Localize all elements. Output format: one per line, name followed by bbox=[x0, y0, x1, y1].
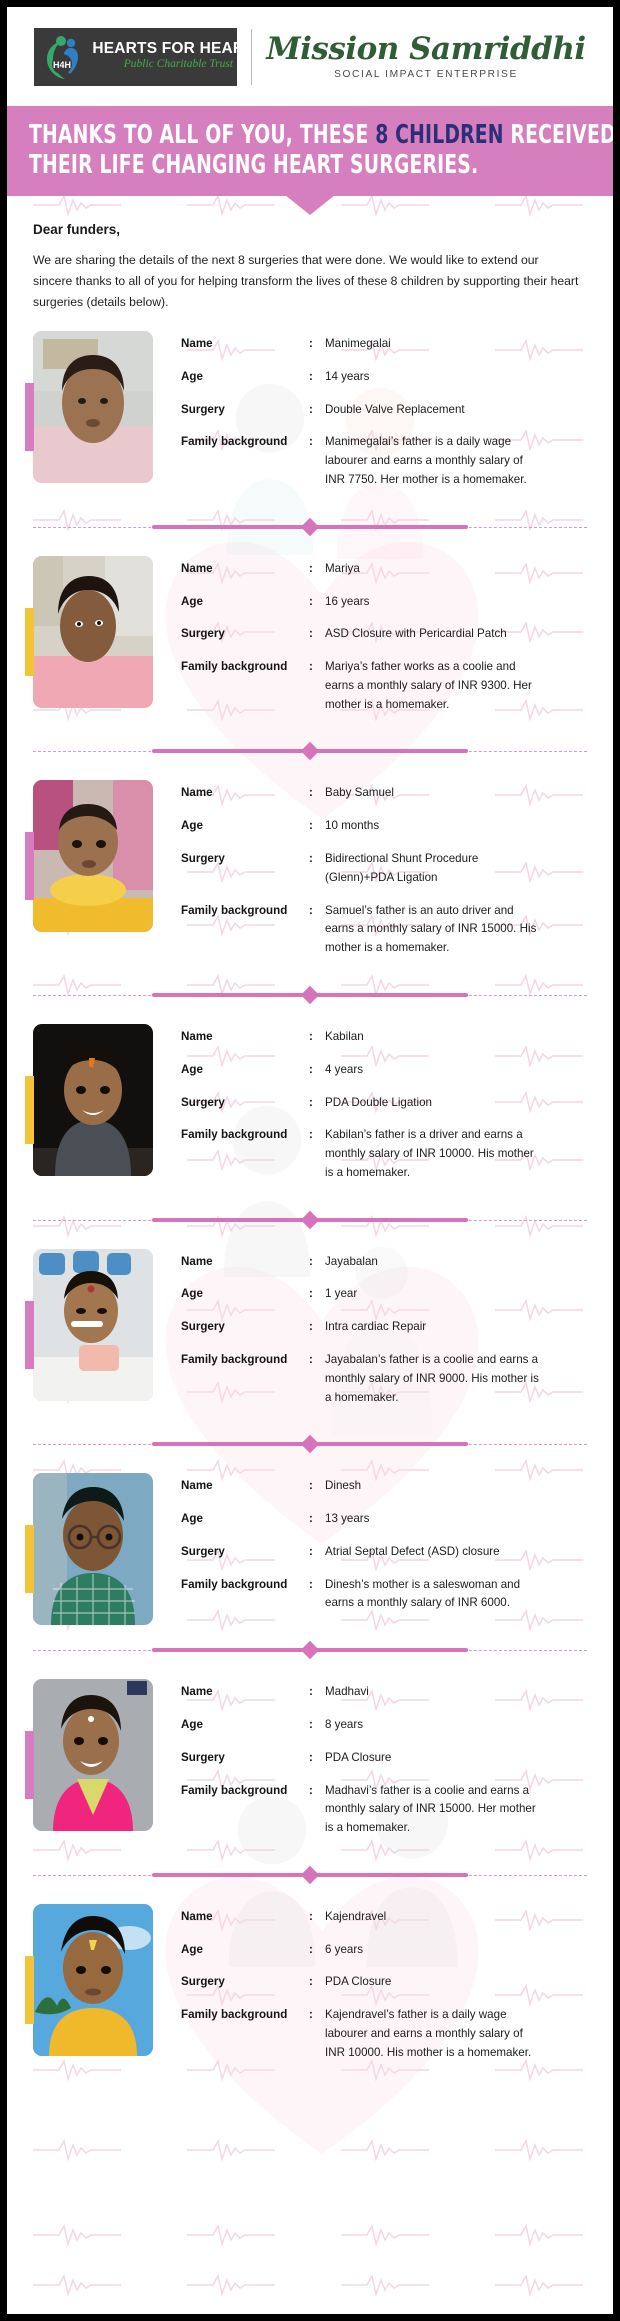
mariya-photo bbox=[33, 556, 153, 708]
field-colon: : bbox=[309, 1716, 325, 1733]
field-label-surgery: Surgery bbox=[181, 1094, 309, 1111]
field-colon: : bbox=[309, 1477, 325, 1494]
field-row-surgery: Surgery:Double Valve Replacement bbox=[181, 401, 599, 420]
child-photo-wrap bbox=[33, 1024, 153, 1197]
card-divider bbox=[7, 1209, 613, 1231]
field-value-name: Manimegalai bbox=[325, 335, 545, 354]
field-colon: : bbox=[309, 2006, 325, 2023]
field-value-age: 4 years bbox=[325, 1061, 545, 1080]
child-card: Name:DineshAge:13 yearsSurgery:Atrial Se… bbox=[7, 1455, 613, 1637]
field-row-family: Family background:Kabilan’s father is a … bbox=[181, 1126, 599, 1182]
field-row-age: Age:1 year bbox=[181, 1285, 599, 1304]
field-row-surgery: Surgery:PDA Closure bbox=[181, 1749, 599, 1768]
field-row-surgery: Surgery:PDA Closure bbox=[181, 1973, 599, 1992]
field-row-age: Age:14 years bbox=[181, 368, 599, 387]
card-divider bbox=[7, 984, 613, 1006]
field-label-age: Age bbox=[181, 368, 309, 385]
field-row-name: Name:Kajendravel bbox=[181, 1908, 599, 1927]
field-colon: : bbox=[309, 1094, 325, 1111]
field-value-age: 13 years bbox=[325, 1510, 545, 1529]
field-value-name: Dinesh bbox=[325, 1477, 545, 1496]
child-detail-fields: Name:JayabalanAge:1 yearSurgery: Intra c… bbox=[153, 1249, 599, 1422]
field-label-family: Family background bbox=[181, 658, 309, 675]
headline-part-1: THANKS TO ALL OF YOU, THESE bbox=[29, 120, 375, 150]
field-label-age: Age bbox=[181, 1941, 309, 1958]
child-card: Name:JayabalanAge:1 yearSurgery: Intra c… bbox=[7, 1231, 613, 1432]
child-card: Name:MadhaviAge:8 yearsSurgery:PDA Closu… bbox=[7, 1661, 613, 1862]
field-value-family: Mariya’s father works as a coolie and ea… bbox=[325, 658, 545, 714]
field-colon: : bbox=[309, 1908, 325, 1925]
field-label-name: Name bbox=[181, 1908, 309, 1925]
field-row-name: Name:Jayabalan bbox=[181, 1253, 599, 1272]
field-colon: : bbox=[309, 368, 325, 385]
field-colon: : bbox=[309, 433, 325, 450]
field-label-name: Name bbox=[181, 1253, 309, 1270]
baby-samuel-photo bbox=[33, 780, 153, 932]
child-detail-fields: Name:ManimegalaiAge:14 yearsSurgery:Doub… bbox=[153, 331, 599, 504]
field-colon: : bbox=[309, 1318, 325, 1335]
field-label-family: Family background bbox=[181, 433, 309, 450]
divider-diamond-icon bbox=[301, 742, 319, 760]
field-label-name: Name bbox=[181, 784, 309, 801]
field-value-family: Manimegalai’s father is a daily wage lab… bbox=[325, 433, 545, 489]
field-colon: : bbox=[309, 817, 325, 834]
field-label-age: Age bbox=[181, 1285, 309, 1302]
field-row-family: Family background:Kajendravel’s father i… bbox=[181, 2006, 599, 2062]
field-label-name: Name bbox=[181, 1683, 309, 1700]
field-label-name: Name bbox=[181, 1028, 309, 1045]
child-photo-wrap bbox=[33, 556, 153, 729]
field-row-family: Family background:Dinesh’s mother is a s… bbox=[181, 1576, 599, 1614]
field-label-surgery: Surgery bbox=[181, 1973, 309, 1990]
photo-accent-bar bbox=[25, 1301, 34, 1369]
child-detail-fields: Name:MadhaviAge:8 yearsSurgery:PDA Closu… bbox=[153, 1679, 599, 1852]
field-row-name: Name:Baby Samuel bbox=[181, 784, 599, 803]
child-card: Name:KabilanAge: 4 yearsSurgery:PDA Doub… bbox=[7, 1006, 613, 1207]
field-label-name: Name bbox=[181, 560, 309, 577]
field-row-name: Name:Manimegalai bbox=[181, 335, 599, 354]
field-colon: : bbox=[309, 625, 325, 642]
field-label-family: Family background bbox=[181, 1576, 309, 1593]
field-colon: : bbox=[309, 335, 325, 352]
field-colon: : bbox=[309, 1749, 325, 1766]
hearts-for-hearts-logo: H4H HEARTS FOR HEARTS Public Charitable … bbox=[34, 28, 237, 86]
field-label-surgery: Surgery bbox=[181, 850, 309, 867]
field-colon: : bbox=[309, 850, 325, 867]
field-value-age: 6 years bbox=[325, 1941, 545, 1960]
field-row-surgery: Surgery:PDA Double Ligation bbox=[181, 1094, 599, 1113]
photo-accent-bar bbox=[25, 1525, 34, 1593]
child-photo-wrap bbox=[33, 331, 153, 504]
field-row-family: Family background:Mariya’s father works … bbox=[181, 658, 599, 714]
header-logo-bar: H4H HEARTS FOR HEARTS Public Charitable … bbox=[7, 7, 613, 106]
manimegalai-photo bbox=[33, 331, 153, 483]
field-colon: : bbox=[309, 658, 325, 675]
intro-body: We are sharing the details of the next 8… bbox=[33, 250, 581, 313]
field-value-name: Baby Samuel bbox=[325, 784, 545, 803]
divider-diamond-icon bbox=[301, 1866, 319, 1884]
h4h-logo-icon: H4H bbox=[42, 33, 86, 81]
field-colon: : bbox=[309, 1285, 325, 1302]
field-colon: : bbox=[309, 1576, 325, 1593]
field-row-age: Age:8 years bbox=[181, 1716, 599, 1735]
field-label-name: Name bbox=[181, 1477, 309, 1494]
field-value-family: Jayabalan’s father is a coolie and earns… bbox=[325, 1351, 545, 1407]
intro-section: Dear funders, We are sharing the details… bbox=[7, 196, 613, 313]
field-label-surgery: Surgery bbox=[181, 1749, 309, 1766]
field-colon: : bbox=[309, 1782, 325, 1799]
field-label-age: Age bbox=[181, 1510, 309, 1527]
partner-tagline: SOCIAL IMPACT ENTERPRISE bbox=[334, 69, 518, 80]
child-detail-fields: Name:KajendravelAge:6 yearsSurgery:PDA C… bbox=[153, 1904, 599, 2077]
field-row-family: Family background:Manimegalai’s father i… bbox=[181, 433, 599, 489]
child-detail-fields: Name:KabilanAge: 4 yearsSurgery:PDA Doub… bbox=[153, 1024, 599, 1197]
field-value-surgery: PDA Closure bbox=[325, 1973, 545, 1992]
photo-accent-bar bbox=[25, 1731, 34, 1799]
field-colon: : bbox=[309, 902, 325, 919]
field-colon: : bbox=[309, 1510, 325, 1527]
field-colon: : bbox=[309, 1253, 325, 1270]
divider-diamond-icon bbox=[301, 986, 319, 1004]
field-row-family: Family background:Samuel’s father is an … bbox=[181, 902, 599, 958]
field-label-surgery: Surgery bbox=[181, 401, 309, 418]
field-colon: : bbox=[309, 1941, 325, 1958]
field-value-family: Kajendravel’s father is a daily wage lab… bbox=[325, 2006, 545, 2062]
field-row-name: Name:Dinesh bbox=[181, 1477, 599, 1496]
field-row-age: Age:6 years bbox=[181, 1941, 599, 1960]
child-detail-fields: Name:Baby SamuelAge:10 monthsSurgery:Bid… bbox=[153, 780, 599, 971]
field-label-age: Age bbox=[181, 593, 309, 610]
field-label-age: Age bbox=[181, 817, 309, 834]
headline-banner: THANKS TO ALL OF YOU, THESE 8 CHILDREN R… bbox=[7, 106, 613, 196]
divider-diamond-icon bbox=[301, 518, 319, 536]
headline-highlight: 8 CHILDREN bbox=[375, 120, 504, 150]
photo-accent-bar bbox=[25, 832, 34, 900]
field-colon: : bbox=[309, 1028, 325, 1045]
field-value-surgery: PDA Double Ligation bbox=[325, 1094, 545, 1113]
partner-name: Mission Samriddhi bbox=[266, 34, 585, 65]
headline-part-2: RECEIVED bbox=[504, 120, 613, 150]
field-row-name: Name:Kabilan bbox=[181, 1028, 599, 1047]
field-value-surgery: ASD Closure with Pericardial Patch bbox=[325, 625, 545, 644]
field-row-family: Family background:Jayabalan’s father is … bbox=[181, 1351, 599, 1407]
field-label-family: Family background bbox=[181, 1782, 309, 1799]
child-card: Name:ManimegalaiAge:14 yearsSurgery:Doub… bbox=[7, 313, 613, 514]
field-colon: : bbox=[309, 784, 325, 801]
field-value-name: Mariya bbox=[325, 560, 545, 579]
field-row-surgery: Surgery:ASD Closure with Pericardial Pat… bbox=[181, 625, 599, 644]
card-divider bbox=[7, 516, 613, 538]
field-row-surgery: Surgery: Intra cardiac Repair bbox=[181, 1318, 599, 1337]
child-detail-fields: Name:DineshAge:13 yearsSurgery:Atrial Se… bbox=[153, 1473, 599, 1627]
field-colon: : bbox=[309, 1973, 325, 1990]
card-divider bbox=[7, 1639, 613, 1661]
child-card: Name:Baby SamuelAge:10 monthsSurgery:Bid… bbox=[7, 762, 613, 981]
child-photo-wrap bbox=[33, 1473, 153, 1627]
field-value-name: Madhavi bbox=[325, 1683, 545, 1702]
field-value-age: 10 months bbox=[325, 817, 545, 836]
divider-diamond-icon bbox=[301, 1641, 319, 1659]
dinesh-photo bbox=[33, 1473, 153, 1625]
card-divider bbox=[7, 1433, 613, 1455]
field-value-name: Kajendravel bbox=[325, 1908, 545, 1927]
field-colon: : bbox=[309, 1351, 325, 1368]
field-colon: : bbox=[309, 560, 325, 577]
field-value-surgery: Bidirectional Shunt Procedure (Glenn)+PD… bbox=[325, 850, 545, 888]
field-value-family: Dinesh’s mother is a saleswoman and earn… bbox=[325, 1576, 545, 1614]
card-divider bbox=[7, 1864, 613, 1886]
logo-tagline: Public Charitable Trust bbox=[92, 58, 264, 72]
child-detail-fields: Name:MariyaAge:16 yearsSurgery:ASD Closu… bbox=[153, 556, 599, 729]
headline-text: THANKS TO ALL OF YOU, THESE 8 CHILDREN R… bbox=[29, 120, 490, 180]
photo-accent-bar bbox=[25, 1956, 34, 2024]
field-colon: : bbox=[309, 1126, 325, 1143]
card-divider bbox=[7, 740, 613, 762]
field-value-surgery: Double Valve Replacement bbox=[325, 401, 545, 420]
field-row-surgery: Surgery:Bidirectional Shunt Procedure (G… bbox=[181, 850, 599, 888]
headline-line-2: THEIR LIFE CHANGING HEART SURGERIES. bbox=[29, 150, 478, 180]
field-row-age: Age:10 months bbox=[181, 817, 599, 836]
field-value-age: 14 years bbox=[325, 368, 545, 387]
photo-accent-bar bbox=[25, 383, 34, 451]
child-photo-wrap bbox=[33, 1679, 153, 1852]
field-label-family: Family background bbox=[181, 902, 309, 919]
photo-accent-bar bbox=[25, 608, 34, 676]
field-label-age: Age bbox=[181, 1716, 309, 1733]
logo-title: HEARTS FOR HEARTS bbox=[92, 41, 264, 57]
field-value-name: Kabilan bbox=[325, 1028, 545, 1047]
child-photo-wrap bbox=[33, 1904, 153, 2077]
field-label-surgery: Surgery bbox=[181, 1543, 309, 1560]
child-card: Name:MariyaAge:16 yearsSurgery:ASD Closu… bbox=[7, 538, 613, 739]
child-photo-wrap bbox=[33, 1249, 153, 1422]
field-value-family: Madhavi’s father is a coolie and earns a… bbox=[325, 1782, 545, 1838]
field-label-name: Name bbox=[181, 335, 309, 352]
field-row-family: Family background:Madhavi’s father is a … bbox=[181, 1782, 599, 1838]
child-photo-wrap bbox=[33, 780, 153, 971]
field-colon: : bbox=[309, 1543, 325, 1560]
field-label-surgery: Surgery bbox=[181, 1318, 309, 1335]
kabilan-photo bbox=[33, 1024, 153, 1176]
field-value-age: 1 year bbox=[325, 1285, 545, 1304]
field-label-family: Family background bbox=[181, 1351, 309, 1368]
mission-samriddhi-logo: Mission Samriddhi SOCIAL IMPACT ENTERPRI… bbox=[266, 34, 585, 80]
field-value-age: 16 years bbox=[325, 593, 545, 612]
divider-diamond-icon bbox=[301, 1210, 319, 1228]
field-label-family: Family background bbox=[181, 2006, 309, 2023]
field-colon: : bbox=[309, 593, 325, 610]
photo-accent-bar bbox=[25, 1076, 34, 1144]
field-value-surgery: Atrial Septal Defect (ASD) closure bbox=[325, 1543, 545, 1562]
field-row-age: Age: 4 years bbox=[181, 1061, 599, 1080]
children-list: Name:ManimegalaiAge:14 yearsSurgery:Doub… bbox=[7, 313, 613, 2097]
field-row-surgery: Surgery:Atrial Septal Defect (ASD) closu… bbox=[181, 1543, 599, 1562]
svg-text:H4H: H4H bbox=[53, 60, 71, 70]
field-value-family: Samuel’s father is an auto driver and ea… bbox=[325, 902, 545, 958]
field-label-age: Age bbox=[181, 1061, 309, 1078]
field-row-age: Age:13 years bbox=[181, 1510, 599, 1529]
field-colon: : bbox=[309, 1683, 325, 1700]
field-value-surgery: PDA Closure bbox=[325, 1749, 545, 1768]
field-row-age: Age:16 years bbox=[181, 593, 599, 612]
madhavi-photo bbox=[33, 1679, 153, 1831]
field-value-surgery: Intra cardiac Repair bbox=[325, 1318, 545, 1337]
field-value-family: Kabilan’s father is a driver and earns a… bbox=[325, 1126, 545, 1182]
field-colon: : bbox=[309, 401, 325, 418]
child-card: Name:KajendravelAge:6 yearsSurgery:PDA C… bbox=[7, 1886, 613, 2087]
infographic-page: H4H HEARTS FOR HEARTS Public Charitable … bbox=[0, 0, 620, 2321]
field-row-name: Name:Madhavi bbox=[181, 1683, 599, 1702]
field-label-family: Family background bbox=[181, 1126, 309, 1143]
field-value-age: 8 years bbox=[325, 1716, 545, 1735]
infographic-sheet: H4H HEARTS FOR HEARTS Public Charitable … bbox=[7, 7, 613, 2314]
field-colon: : bbox=[309, 1061, 325, 1078]
jayabalan-photo bbox=[33, 1249, 153, 1401]
field-value-name: Jayabalan bbox=[325, 1253, 545, 1272]
field-row-name: Name:Mariya bbox=[181, 560, 599, 579]
logo-divider bbox=[251, 29, 252, 85]
field-label-surgery: Surgery bbox=[181, 625, 309, 642]
intro-greeting: Dear funders, bbox=[33, 222, 587, 237]
kajendravel-photo bbox=[33, 1904, 153, 2056]
divider-diamond-icon bbox=[301, 1435, 319, 1453]
